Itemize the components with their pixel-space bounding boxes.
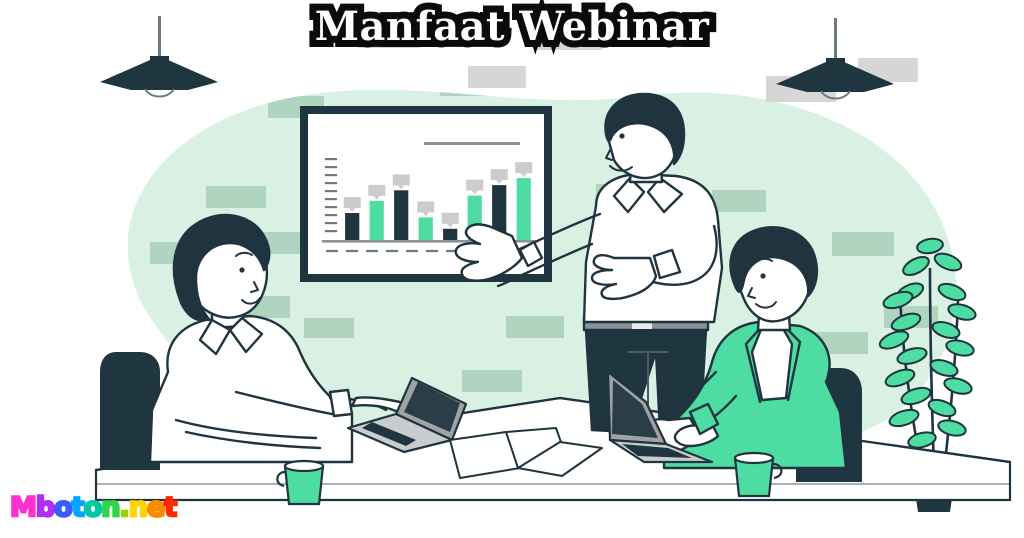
watermark-letter: t [164,492,176,523]
chart-bar [517,178,531,241]
watermark-letter: e [147,492,164,523]
page-title-wrap: Manfaat Webinar [0,6,1024,48]
chart-bar [345,213,359,241]
watermark-letter: n [129,492,147,523]
watermark-letter: M [10,492,36,523]
watermark-letter: n [101,492,119,523]
scene-illustration [0,0,1024,538]
board-title-rule [424,142,520,145]
watermark-letter: b [36,492,54,523]
watermark-letter: o [84,492,102,523]
chart-bar [419,217,433,241]
page-title: Manfaat Webinar [315,6,710,48]
watermark: Mboton.net [10,492,176,523]
chart-bar [394,190,408,241]
watermark-letter: . [119,492,128,523]
chart-bar [443,229,457,241]
watermark-letter: t [72,492,84,523]
illustration-canvas: Manfaat Webinar Manfaat Webinar Mboton.n… [0,0,1024,538]
chart-bar [370,201,384,241]
watermark-letter: o [54,492,72,523]
